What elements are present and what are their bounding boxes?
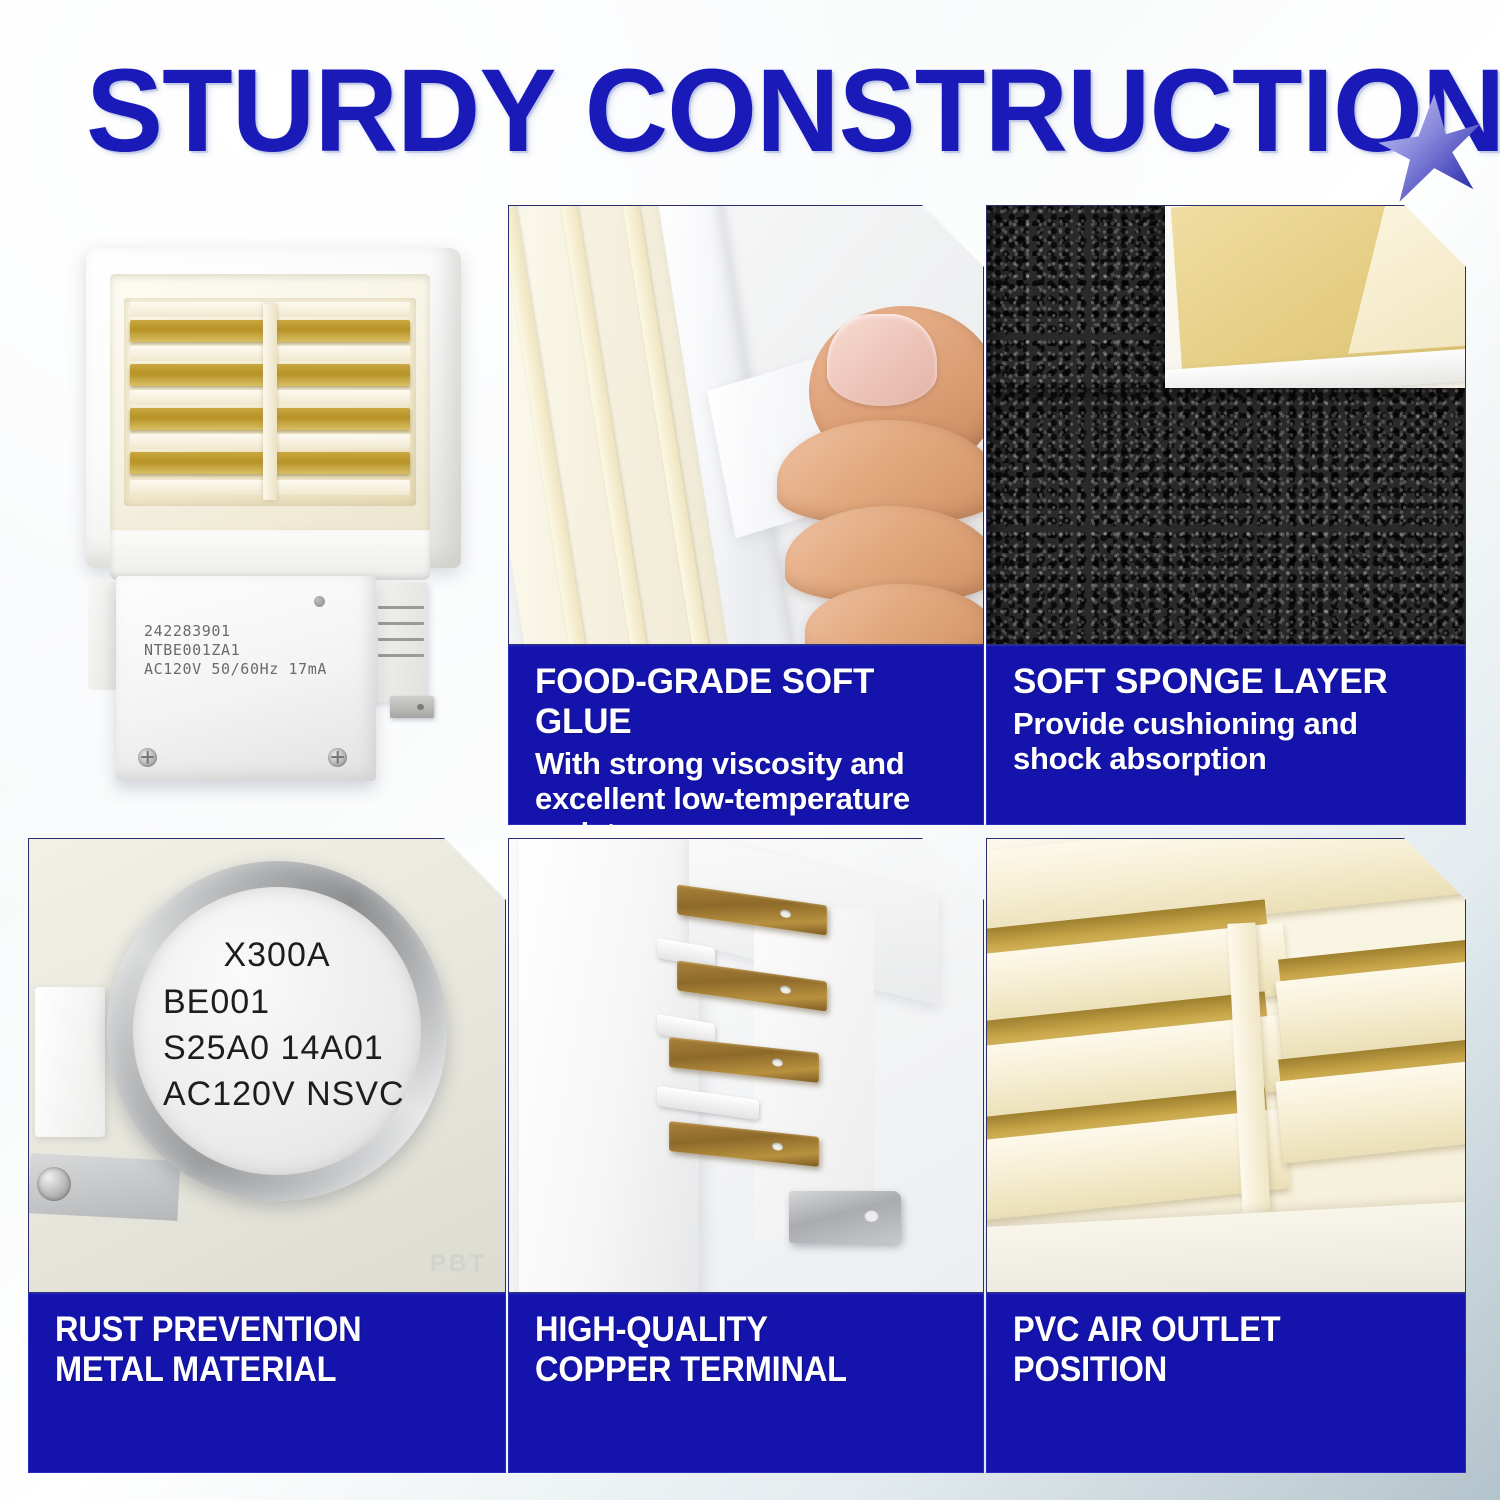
damper-assembly-photo: 242283901 NTBE001ZA1 AC120V 50/60Hz 17mA — [48, 230, 488, 790]
vent-grille — [124, 298, 416, 506]
panel-rust-prevention: X300A BE001 S25A0 14A01 AC120V NSVC PBT … — [28, 838, 506, 1473]
motor-label-line3: S25A0 14A01 — [133, 1025, 421, 1071]
star-icon — [1376, 92, 1482, 204]
header: STURDY CONSTRUCTION — [0, 52, 1500, 182]
main-product-image: 242283901 NTBE001ZA1 AC120V 50/60Hz 17mA — [28, 205, 506, 825]
motor-box: 242283901 NTBE001ZA1 AC120V 50/60Hz 17mA — [116, 576, 376, 781]
caption-subtitle: With strong viscosity and excellent low-… — [535, 746, 957, 825]
caption-title-line2: METAL MATERIAL — [55, 1350, 449, 1390]
motor-label-text: X300A BE001 S25A0 14A01 AC120V NSVC — [133, 931, 421, 1117]
panel-soft-sponge-layer: SOFT SPONGE LAYER Provide cushioning and… — [986, 205, 1466, 825]
caption-food-grade-soft-glue: FOOD-GRADE SOFT GLUE With strong viscosi… — [508, 645, 984, 825]
glue-photo — [508, 205, 984, 645]
panel-copper-terminal: HIGH-QUALITY COPPER TERMINAL — [508, 838, 984, 1473]
page-title: STURDY CONSTRUCTION — [86, 52, 1500, 170]
caption-title-line1: PVC AIR OUTLET — [1013, 1310, 1409, 1350]
caption-title-line1: HIGH-QUALITY — [535, 1310, 927, 1350]
motor-photo: X300A BE001 S25A0 14A01 AC120V NSVC PBT — [28, 838, 506, 1293]
motor-label-line1: X300A — [133, 931, 421, 979]
motor-label-line4: AC120V NSVC — [133, 1071, 421, 1117]
screw-icon — [328, 748, 347, 767]
side-flange — [368, 582, 428, 702]
caption-title-line2: COPPER TERMINAL — [535, 1350, 927, 1390]
silver-spade-terminal — [789, 1191, 901, 1243]
panel-food-grade-soft-glue: FOOD-GRADE SOFT GLUE With strong viscosi… — [508, 205, 984, 825]
spade-terminal — [390, 696, 434, 718]
thumbnail — [827, 314, 937, 406]
screw-icon — [37, 1167, 71, 1201]
motor-label-line2: BE001 — [133, 979, 421, 1025]
panel-pvc-air-outlet: PVC AIR OUTLET POSITION — [986, 838, 1466, 1473]
copper-terminal-photo — [508, 838, 984, 1293]
pbt-emboss: PBT — [430, 1250, 487, 1278]
product-label: 242283901 NTBE001ZA1 AC120V 50/60Hz 17mA — [144, 622, 327, 679]
caption-subtitle: Provide cushioning and shock absorption — [1013, 706, 1439, 776]
caption-copper-terminal: HIGH-QUALITY COPPER TERMINAL — [508, 1293, 984, 1473]
caption-title-line2: POSITION — [1013, 1350, 1409, 1390]
infographic-page: STURDY CONSTRUCTION — [0, 0, 1500, 1500]
indicator-dot — [314, 596, 325, 607]
caption-pvc-air-outlet: PVC AIR OUTLET POSITION — [986, 1293, 1466, 1473]
sponge-foam-horizontal — [987, 388, 1466, 645]
foam-bottom-band — [110, 530, 430, 580]
caption-title: FOOD-GRADE SOFT GLUE — [535, 662, 957, 742]
screw-icon — [138, 748, 157, 767]
caption-soft-sponge-layer: SOFT SPONGE LAYER Provide cushioning and… — [986, 645, 1466, 825]
pvc-vent-photo — [986, 838, 1466, 1293]
sponge-photo — [986, 205, 1466, 645]
caption-title-line1: RUST PREVENTION — [55, 1310, 449, 1350]
caption-rust-prevention: RUST PREVENTION METAL MATERIAL — [28, 1293, 506, 1473]
caption-title: SOFT SPONGE LAYER — [1013, 662, 1439, 702]
